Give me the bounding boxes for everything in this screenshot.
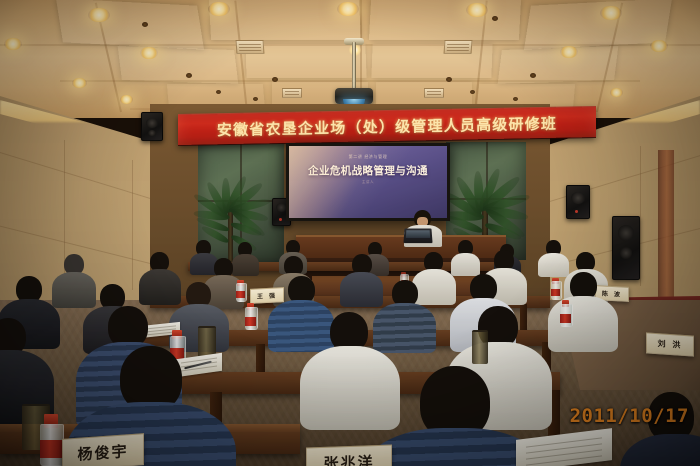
water-bottle — [551, 278, 560, 300]
name-placard: 王 强 — [250, 287, 284, 304]
ceiling-downlight — [140, 47, 158, 59]
name-placard: 刘 洪 — [646, 332, 694, 356]
slide-footer: 主讲人 — [289, 180, 447, 185]
pa-speaker-right-wall — [612, 216, 640, 280]
ceiling-downlight — [120, 95, 133, 104]
banner-text: 安徽省农垦企业场（处）级管理人员高级研修班 — [217, 112, 557, 140]
ceiling-downlight — [610, 88, 623, 97]
ceiling-downlight — [337, 2, 359, 16]
ceiling-downlight — [650, 40, 668, 52]
name-placard-front-center: 张兆洋 — [306, 444, 392, 466]
ceiling-vent — [424, 88, 444, 98]
ceiling-downlight — [600, 6, 622, 20]
ceiling-downlight — [88, 8, 110, 22]
name-placard-text: 张兆洋 — [323, 451, 374, 466]
pa-speaker-stage-right — [566, 185, 590, 219]
ceiling-downlight — [560, 46, 578, 58]
water-bottle — [236, 280, 245, 302]
pa-speaker-left-wall — [141, 112, 163, 141]
ceiling-downlight — [72, 78, 87, 88]
ceiling-vent — [444, 40, 473, 54]
wood-pilaster-far-right — [658, 150, 674, 300]
ceiling-downlight — [4, 38, 22, 50]
ceiling-vent — [282, 88, 302, 98]
name-placard-text: 王 强 — [257, 290, 277, 300]
water-bottle — [560, 300, 571, 327]
name-placard-text: 刘 洪 — [658, 338, 683, 351]
projector-pole — [352, 42, 356, 90]
slide-subtitle: 第二讲 经济与管理 — [289, 154, 447, 160]
ceiling-downlight — [466, 3, 488, 17]
name-placard-front-left: 杨俊宇 — [62, 433, 144, 466]
water-bottle — [245, 303, 256, 330]
slide-title: 企业危机战略管理与沟通 — [289, 163, 447, 178]
conference-room-photo: 安徽省农垦企业场（处）级管理人员高级研修班 — [0, 0, 700, 466]
name-placard-text: 陈 波 — [602, 288, 622, 298]
projection-screen: 第二讲 经济与管理 企业危机战略管理与沟通 主讲人 — [286, 143, 450, 221]
laptop — [403, 228, 432, 243]
tea-thermos — [472, 330, 488, 364]
ceiling-vent — [236, 40, 265, 54]
camera-timestamp: 2011/10/17 — [570, 405, 689, 427]
name-placard-text: 杨俊宇 — [77, 440, 128, 465]
water-bottle — [40, 414, 62, 466]
ceiling-downlight — [208, 2, 230, 16]
